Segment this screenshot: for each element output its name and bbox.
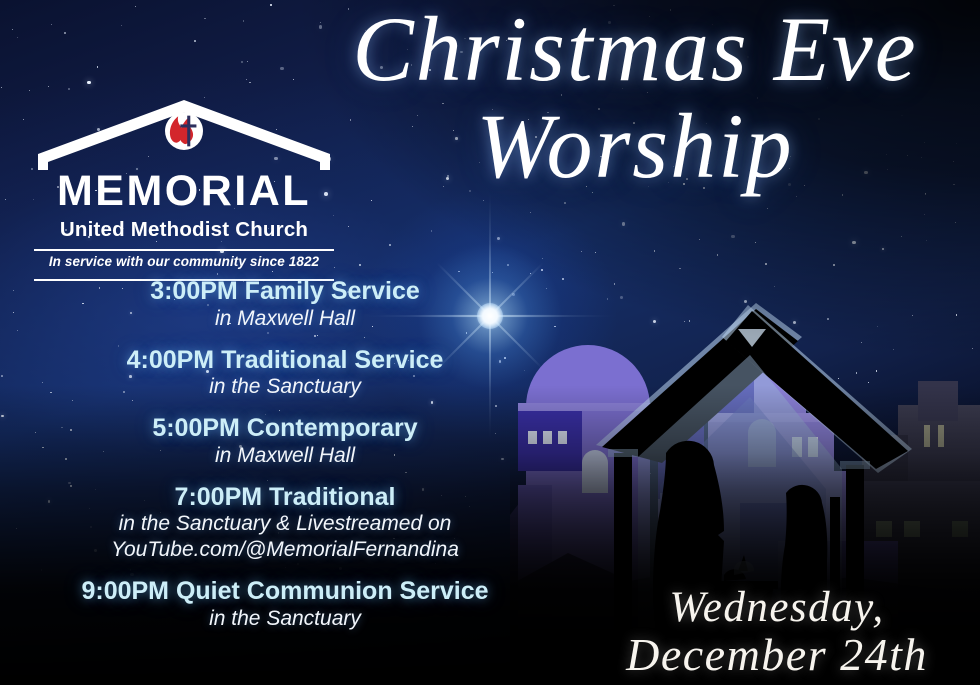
service-time-and-name: 3:00PM Family Service bbox=[0, 277, 570, 306]
service-time-and-name: 5:00PM Contemporary bbox=[0, 414, 570, 443]
service-item: 5:00PM Contemporary in Maxwell Hall bbox=[0, 414, 570, 469]
service-location: in the Sanctuary bbox=[0, 375, 570, 400]
service-time-and-name: 7:00PM Traditional bbox=[0, 483, 570, 512]
service-schedule-list: 3:00PM Family Service in Maxwell Hall 4:… bbox=[0, 277, 570, 645]
umc-cross-and-flame-icon bbox=[165, 112, 203, 150]
service-location: in the Sanctuary & Livestreamed on bbox=[0, 512, 570, 537]
event-date: Wednesday, December 24th bbox=[592, 586, 962, 679]
service-location: in Maxwell Hall bbox=[0, 307, 570, 332]
logo-roof-outline bbox=[34, 96, 334, 174]
church-logo: MEMORIAL United Methodist Church In serv… bbox=[34, 96, 334, 281]
logo-denomination: United Methodist Church bbox=[34, 218, 334, 242]
christmas-eve-worship-poster: MEMORIAL United Methodist Church In serv… bbox=[0, 0, 980, 685]
service-time-and-name: 9:00PM Quiet Communion Service bbox=[0, 577, 570, 606]
event-date-line-1: Wednesday, bbox=[592, 586, 962, 629]
service-item: 4:00PM Traditional Service in the Sanctu… bbox=[0, 346, 570, 401]
service-item: 3:00PM Family Service in Maxwell Hall bbox=[0, 277, 570, 332]
service-item: 7:00PM Traditional in the Sanctuary & Li… bbox=[0, 483, 570, 563]
service-location: in the Sanctuary bbox=[0, 607, 570, 632]
service-time-and-name: 4:00PM Traditional Service bbox=[0, 346, 570, 375]
service-location: in Maxwell Hall bbox=[0, 444, 570, 469]
logo-tagline: In service with our community since 1822 bbox=[34, 251, 334, 272]
service-livestream-url[interactable]: YouTube.com/@MemorialFernandina bbox=[0, 538, 570, 563]
logo-church-name: MEMORIAL bbox=[34, 170, 334, 213]
service-item: 9:00PM Quiet Communion Service in the Sa… bbox=[0, 577, 570, 632]
event-date-line-2: December 24th bbox=[592, 631, 962, 679]
